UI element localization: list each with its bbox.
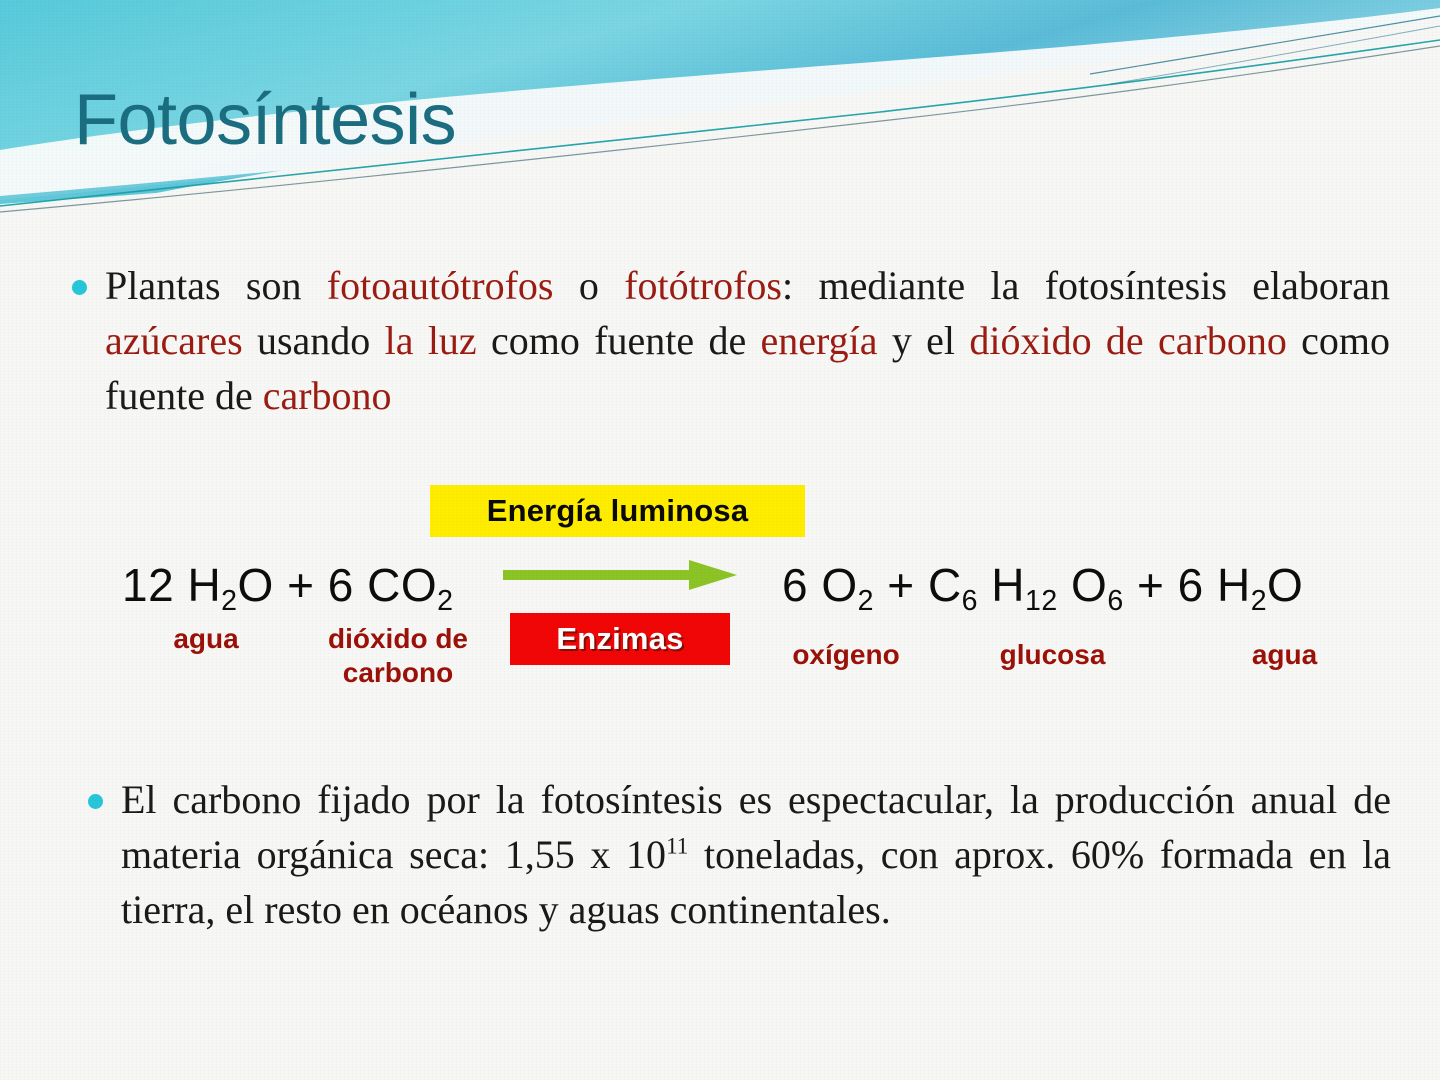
- bullet-2-exponent: 11: [666, 834, 688, 860]
- product-sub-3: 6: [962, 585, 978, 617]
- bullet-item-2: El carbono fijado por la fotosíntesis es…: [88, 772, 1393, 938]
- products-formula: 6 O2 + C6 H12 O6 + 6 H2O: [782, 558, 1303, 612]
- product-sub-9: 2: [1251, 585, 1267, 617]
- product-part-8: + 6 H: [1124, 559, 1251, 611]
- seg-mediante: : mediante la fotosíntesis elaboran: [782, 263, 1390, 308]
- product-part-10: O: [1267, 559, 1303, 611]
- product-part-6: O: [1058, 559, 1108, 611]
- reactant-part-2: O + 6 CO: [238, 559, 438, 611]
- bullet-dot-icon: [88, 794, 103, 809]
- seg-energia: energía: [761, 318, 878, 363]
- product-sub-1: 2: [858, 585, 874, 617]
- product-label-oxigeno: oxígeno: [770, 638, 922, 672]
- energy-input-label: Energía luminosa: [487, 493, 749, 529]
- reactant-label-agua: agua: [160, 622, 252, 656]
- bullet-1-text: Plantas son fotoautótrofos o fotótrofos:…: [105, 258, 1390, 424]
- catalyst-label: Enzimas: [556, 621, 683, 657]
- product-label-glucosa: glucosa: [975, 638, 1130, 672]
- seg-fuente-de: como fuente de: [477, 318, 761, 363]
- reactants-formula: 12 H2O + 6 CO2: [122, 558, 453, 612]
- product-sub-5: 12: [1025, 585, 1058, 617]
- product-label-agua: agua: [1232, 638, 1337, 672]
- seg-y-el: y el: [878, 318, 970, 363]
- slide-root: Fotosíntesis Plantas son fotoautótrofos …: [0, 0, 1440, 1080]
- bullet-dot-icon: [72, 280, 87, 295]
- energy-input-label-box: Energía luminosa: [430, 485, 805, 537]
- seg-dioxido-de-carbono: dióxido de carbono: [969, 318, 1286, 363]
- reactant-sub-3: 2: [437, 585, 453, 617]
- seg-la-luz: la luz: [385, 318, 477, 363]
- product-part-4: H: [978, 559, 1025, 611]
- photosynthesis-equation: Energía luminosa 12 H2O + 6 CO2 6 O2 + C…: [0, 470, 1440, 730]
- reactant-sub-1: 2: [221, 585, 237, 617]
- seg-azucares: azúcares: [105, 318, 243, 363]
- bullet-item-1: Plantas son fotoautótrofos o fotótrofos:…: [72, 258, 1392, 424]
- product-part-2: + C: [874, 559, 962, 611]
- page-title: Fotosíntesis: [74, 84, 456, 156]
- catalyst-label-box: Enzimas: [510, 613, 730, 665]
- seg-fotoautotrofos: fotoautótrofos: [327, 263, 554, 308]
- product-sub-7: 6: [1107, 585, 1123, 617]
- bullet-2-text: El carbono fijado por la fotosíntesis es…: [121, 772, 1391, 938]
- reactant-label-dioxido-de-carbono: dióxido de carbono: [302, 622, 494, 690]
- seg-usando: usando: [243, 318, 385, 363]
- seg-fototrofos: fotótrofos: [624, 263, 782, 308]
- reactant-part-0: 12 H: [122, 559, 221, 611]
- seg-carbono: carbono: [263, 373, 392, 418]
- product-part-0: 6 O: [782, 559, 858, 611]
- seg-plantas-son: Plantas son: [105, 263, 327, 308]
- seg-o: o: [553, 263, 624, 308]
